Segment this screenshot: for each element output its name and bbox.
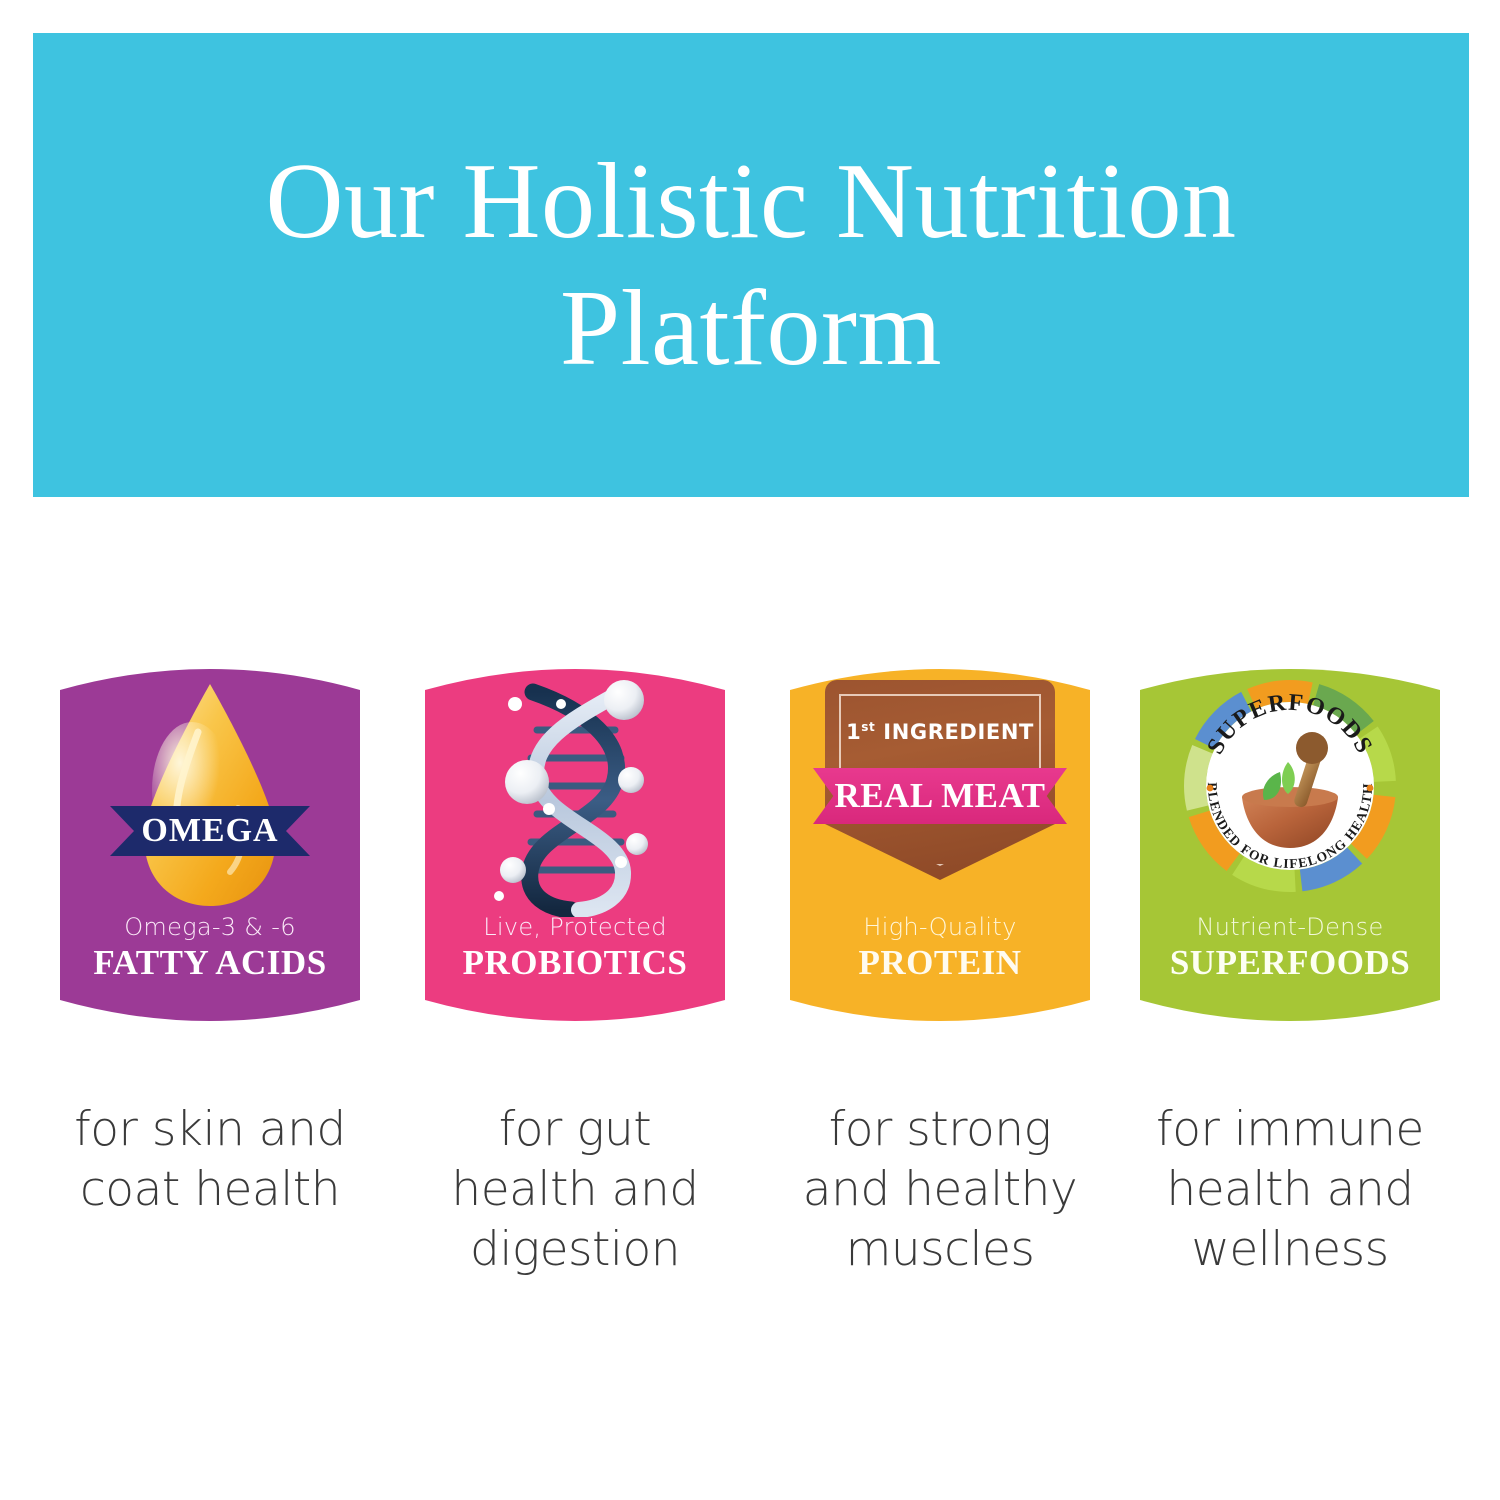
superfoods-seal-icon: SUPERFOODS BLENDED FOR LIFELONG HEALTH	[1184, 680, 1396, 892]
omega-ribbon-label: OMEGA	[141, 812, 278, 850]
caption-gut-health: for gut health and digestion	[425, 1100, 725, 1280]
real-meat-label: REAL MEAT	[835, 776, 1046, 816]
badge-art-fatty-acids: OMEGA	[60, 666, 360, 916]
badge-fatty-acids[interactable]: OMEGA Omega-3 & -6 FATTY ACIDS	[60, 656, 360, 1034]
badge-title: FATTY ACIDS	[60, 944, 360, 983]
badge-subtitle: Omega-3 & -6	[60, 912, 360, 942]
badge-superfoods[interactable]: SUPERFOODS BLENDED FOR LIFELONG HEALTH N…	[1140, 656, 1440, 1034]
benefit-caption-row: for skin and coat health for gut health …	[0, 1100, 1500, 1330]
benefit-badge-row: OMEGA Omega-3 & -6 FATTY ACIDS	[0, 656, 1500, 1046]
caption-skin-and-coat: for skin and coat health	[60, 1100, 360, 1220]
first-ingredient-label: 1st INGREDIENT	[825, 720, 1055, 744]
oil-drop-icon	[120, 680, 300, 910]
badge-caption-probiotics: Live, Protected PROBIOTICS	[425, 912, 725, 983]
badge-title: SUPERFOODS	[1140, 944, 1440, 983]
badge-caption-protein: High-Quality PROTEIN	[790, 912, 1090, 983]
meat-shield-icon: 1st INGREDIENT REAL MEAT	[825, 680, 1055, 910]
dna-helix-icon	[475, 672, 675, 917]
badge-art-probiotics	[425, 666, 725, 916]
badge-caption-fatty-acids: Omega-3 & -6 FATTY ACIDS	[60, 912, 360, 983]
omega-ribbon: OMEGA	[110, 806, 310, 856]
badge-art-superfoods: SUPERFOODS BLENDED FOR LIFELONG HEALTH	[1140, 666, 1440, 916]
real-meat-ribbon: REAL MEAT	[813, 768, 1067, 824]
caption-muscles: for strong and healthy muscles	[790, 1100, 1090, 1280]
badge-title: PROBIOTICS	[425, 944, 725, 983]
first-ingredient-text: 1st INGREDIENT	[846, 720, 1034, 744]
caption-immune-health: for immune health and wellness	[1140, 1100, 1440, 1280]
badge-art-protein: 1st INGREDIENT REAL MEAT	[790, 666, 1090, 916]
badge-protein[interactable]: 1st INGREDIENT REAL MEAT High-Quality PR…	[790, 656, 1090, 1034]
badge-caption-superfoods: Nutrient-Dense SUPERFOODS	[1140, 912, 1440, 983]
page-title: Our Holistic Nutrition Platform	[241, 138, 1261, 393]
badge-subtitle: High-Quality	[790, 912, 1090, 942]
badge-probiotics[interactable]: Live, Protected PROBIOTICS	[425, 656, 725, 1034]
header-banner: Our Holistic Nutrition Platform	[33, 33, 1469, 497]
badge-subtitle: Nutrient-Dense	[1140, 912, 1440, 942]
badge-title: PROTEIN	[790, 944, 1090, 983]
